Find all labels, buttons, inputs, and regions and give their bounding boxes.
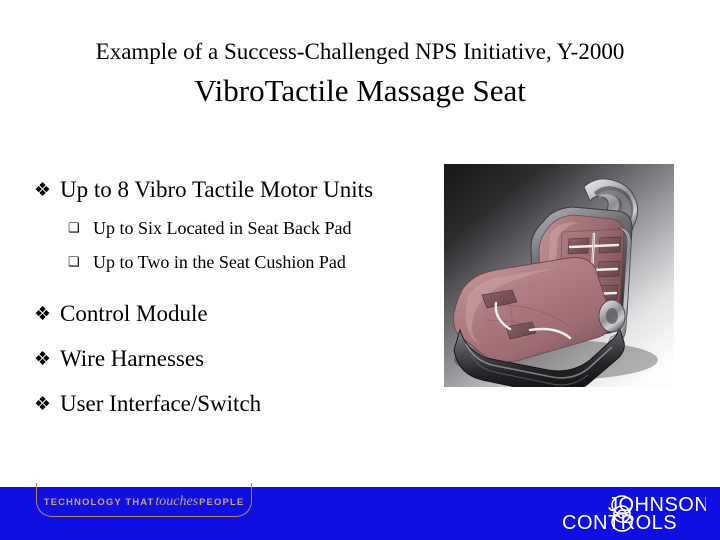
tagline-block: TECHNOLOGY THATtouchesPEOPLE	[36, 489, 254, 519]
bullet-list: ❖ Up to 8 Vibro Tactile Motor Units ❑ Up…	[34, 170, 444, 426]
tagline-part-1: TECHNOLOGY THAT	[44, 497, 155, 508]
hollow-square-bullet-icon: ❑	[68, 245, 93, 278]
bullet-item-level2: ❑ Up to Six Located in Seat Back Pad	[34, 212, 444, 246]
bullet-item-level1: ❖ Up to 8 Vibro Tactile Motor Units	[34, 170, 444, 212]
tagline-text: TECHNOLOGY THATtouchesPEOPLE	[36, 492, 252, 510]
tagline-part-2: touches	[154, 494, 199, 509]
bullet-item-label: Control Module	[60, 294, 444, 334]
bullet-item-level2: ❑ Up to Two in the Seat Cushion Pad	[34, 246, 444, 280]
slide-title-line-1: Example of a Success-Challenged NPS Init…	[0, 38, 720, 66]
slide-title-line-2: VibroTactile Massage Seat	[0, 72, 720, 110]
bullet-item-label: Up to 8 Vibro Tactile Motor Units	[60, 170, 444, 210]
bullet-item-level1: ❖ Control Module	[34, 294, 444, 336]
diamond-cluster-bullet-icon: ❖	[34, 340, 60, 380]
diamond-cluster-bullet-icon: ❖	[34, 385, 60, 425]
diamond-cluster-bullet-icon: ❖	[34, 171, 60, 211]
bullet-item-label: User Interface/Switch	[60, 384, 444, 424]
logo-line-controls: CONTROLS	[562, 512, 677, 534]
bullet-item-label: Up to Two in the Seat Cushion Pad	[93, 246, 444, 279]
diamond-cluster-bullet-icon: ❖	[34, 295, 60, 335]
slide-canvas: Example of a Success-Challenged NPS Init…	[0, 0, 720, 540]
massage-seat-image	[444, 164, 674, 387]
johnson-controls-logo: JOHNSON CONTROLS	[534, 491, 706, 537]
bullet-item-label: Wire Harnesses	[60, 339, 444, 379]
bullet-item-label: Up to Six Located in Seat Back Pad	[93, 212, 444, 245]
bullet-item-level1: ❖ User Interface/Switch	[34, 384, 444, 426]
bullet-item-level1: ❖ Wire Harnesses	[34, 339, 444, 381]
hollow-square-bullet-icon: ❑	[68, 211, 93, 244]
tagline-part-3: PEOPLE	[199, 497, 244, 508]
